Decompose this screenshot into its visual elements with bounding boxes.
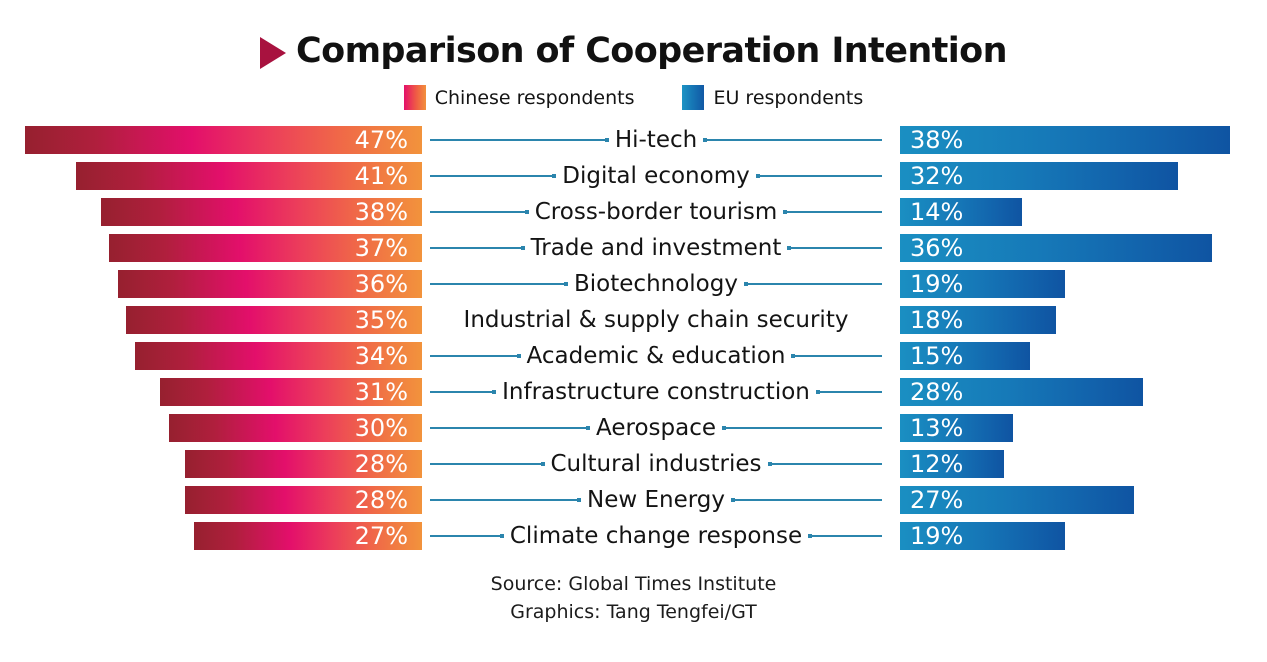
category-label: Hi-tech [609, 129, 703, 152]
category-label-group: Hi-tech [430, 122, 882, 158]
bar-eu: 19% [900, 270, 1065, 298]
bar-value-chinese: 31% [355, 380, 422, 404]
chart-row: 41%Digital economy32% [0, 158, 1267, 194]
connector-line-left [430, 247, 525, 249]
category-label: Cultural industries [545, 453, 768, 476]
bar-value-eu: 18% [900, 308, 963, 332]
connector-line-right [816, 391, 882, 393]
connector-line-right [783, 211, 882, 213]
category-label-group: Digital economy [430, 158, 882, 194]
category-label: Climate change response [504, 525, 808, 548]
chart-row: 31%Infrastructure construction28% [0, 374, 1267, 410]
bar-value-eu: 27% [900, 488, 963, 512]
bar-value-eu: 19% [900, 524, 963, 548]
bar-value-eu: 19% [900, 272, 963, 296]
chart-header: Comparison of Cooperation Intention Chin… [0, 0, 1267, 110]
legend-item-eu: EU respondents [682, 85, 863, 110]
category-label: Trade and investment [525, 237, 788, 260]
category-label: Industrial & supply chain security [458, 309, 855, 332]
chart-row: 34%Academic & education15% [0, 338, 1267, 374]
bar-value-eu: 15% [900, 344, 963, 368]
bar-eu: 19% [900, 522, 1065, 550]
source-text: Source: Global Times Institute [0, 570, 1267, 598]
connector-line-left [430, 139, 609, 141]
bar-chinese: 36% [118, 270, 422, 298]
bar-value-eu: 38% [900, 128, 963, 152]
bar-eu: 12% [900, 450, 1004, 478]
connector-line-left [430, 355, 521, 357]
chart-row: 36%Biotechnology19% [0, 266, 1267, 302]
category-label-group: New Energy [430, 482, 882, 518]
category-label-group: Academic & education [430, 338, 882, 374]
bar-eu: 18% [900, 306, 1056, 334]
bar-value-chinese: 35% [355, 308, 422, 332]
connector-line-left [430, 211, 529, 213]
chart-row: 47%Hi-tech38% [0, 122, 1267, 158]
category-label: Biotechnology [568, 273, 744, 296]
connector-line-right [744, 283, 882, 285]
bar-value-chinese: 36% [355, 272, 422, 296]
title-row: Comparison of Cooperation Intention [0, 34, 1267, 69]
bar-value-eu: 28% [900, 380, 963, 404]
bar-value-chinese: 28% [355, 488, 422, 512]
bar-value-chinese: 41% [355, 164, 422, 188]
chart-row: 28%Cultural industries12% [0, 446, 1267, 482]
bar-value-chinese: 30% [355, 416, 422, 440]
connector-line-left [430, 499, 581, 501]
bar-chinese: 30% [169, 414, 423, 442]
bar-eu: 14% [900, 198, 1022, 226]
legend: Chinese respondents EU respondents [0, 85, 1267, 110]
bar-value-chinese: 47% [355, 128, 422, 152]
category-label-group: Aerospace [430, 410, 882, 446]
chart-row: 30%Aerospace13% [0, 410, 1267, 446]
connector-line-left [430, 427, 590, 429]
bar-chinese: 38% [101, 198, 422, 226]
chart-row: 37%Trade and investment36% [0, 230, 1267, 266]
chart-row: 28%New Energy27% [0, 482, 1267, 518]
chart-row: 38%Cross-border tourism14% [0, 194, 1267, 230]
graphics-credit-text: Graphics: Tang Tengfei/GT [0, 598, 1267, 626]
connector-line-left [430, 463, 545, 465]
bar-chinese: 28% [185, 486, 422, 514]
category-label: Aerospace [590, 417, 722, 440]
bar-value-chinese: 27% [355, 524, 422, 548]
connector-line-left [430, 391, 496, 393]
bar-eu: 32% [900, 162, 1178, 190]
category-label: Academic & education [521, 345, 792, 368]
category-label-group: Cross-border tourism [430, 194, 882, 230]
category-label: Infrastructure construction [496, 381, 816, 404]
bar-value-chinese: 28% [355, 452, 422, 476]
bar-value-chinese: 38% [355, 200, 422, 224]
bar-eu: 27% [900, 486, 1134, 514]
bar-eu: 13% [900, 414, 1013, 442]
bar-value-eu: 12% [900, 452, 963, 476]
bar-chinese: 27% [194, 522, 422, 550]
category-label-group: Industrial & supply chain security [430, 302, 882, 338]
connector-line-left [430, 175, 556, 177]
bar-chinese: 28% [185, 450, 422, 478]
connector-line-right [768, 463, 883, 465]
legend-swatch-eu-icon [682, 85, 704, 110]
connector-line-right [722, 427, 882, 429]
category-label-group: Climate change response [430, 518, 882, 554]
bar-value-chinese: 34% [355, 344, 422, 368]
legend-label-eu: EU respondents [713, 87, 863, 109]
category-label-group: Cultural industries [430, 446, 882, 482]
bar-chinese: 31% [160, 378, 422, 406]
connector-line-right [756, 175, 882, 177]
bar-value-chinese: 37% [355, 236, 422, 260]
category-label: Cross-border tourism [529, 201, 784, 224]
category-label-group: Biotechnology [430, 266, 882, 302]
connector-line-right [731, 499, 882, 501]
bar-value-eu: 36% [900, 236, 963, 260]
bar-eu: 15% [900, 342, 1030, 370]
chart-row: 35%Industrial & supply chain security18% [0, 302, 1267, 338]
chart-footer: Source: Global Times Institute Graphics:… [0, 570, 1267, 626]
category-label: New Energy [581, 489, 731, 512]
bar-chinese: 47% [25, 126, 422, 154]
play-triangle-icon [260, 37, 286, 69]
category-label-group: Trade and investment [430, 230, 882, 266]
connector-line-right [703, 139, 882, 141]
page-title: Comparison of Cooperation Intention [296, 34, 1007, 69]
bar-chart: 47%Hi-tech38%41%Digital economy32%38%Cro… [0, 122, 1267, 554]
bar-chinese: 35% [126, 306, 422, 334]
legend-swatch-chinese-icon [404, 85, 426, 110]
category-label: Digital economy [556, 165, 755, 188]
bar-value-eu: 32% [900, 164, 963, 188]
bar-value-eu: 14% [900, 200, 963, 224]
chart-row: 27%Climate change response19% [0, 518, 1267, 554]
bar-chinese: 34% [135, 342, 422, 370]
bar-chinese: 41% [76, 162, 422, 190]
bar-eu: 38% [900, 126, 1230, 154]
connector-line-left [430, 283, 568, 285]
connector-line-right [791, 355, 882, 357]
legend-item-chinese: Chinese respondents [404, 85, 635, 110]
bar-chinese: 37% [109, 234, 422, 262]
bar-value-eu: 13% [900, 416, 963, 440]
connector-line-right [808, 535, 882, 537]
legend-label-chinese: Chinese respondents [435, 87, 635, 109]
connector-line-left [430, 535, 504, 537]
connector-line-right [787, 247, 882, 249]
bar-eu: 28% [900, 378, 1143, 406]
bar-eu: 36% [900, 234, 1212, 262]
category-label-group: Infrastructure construction [430, 374, 882, 410]
